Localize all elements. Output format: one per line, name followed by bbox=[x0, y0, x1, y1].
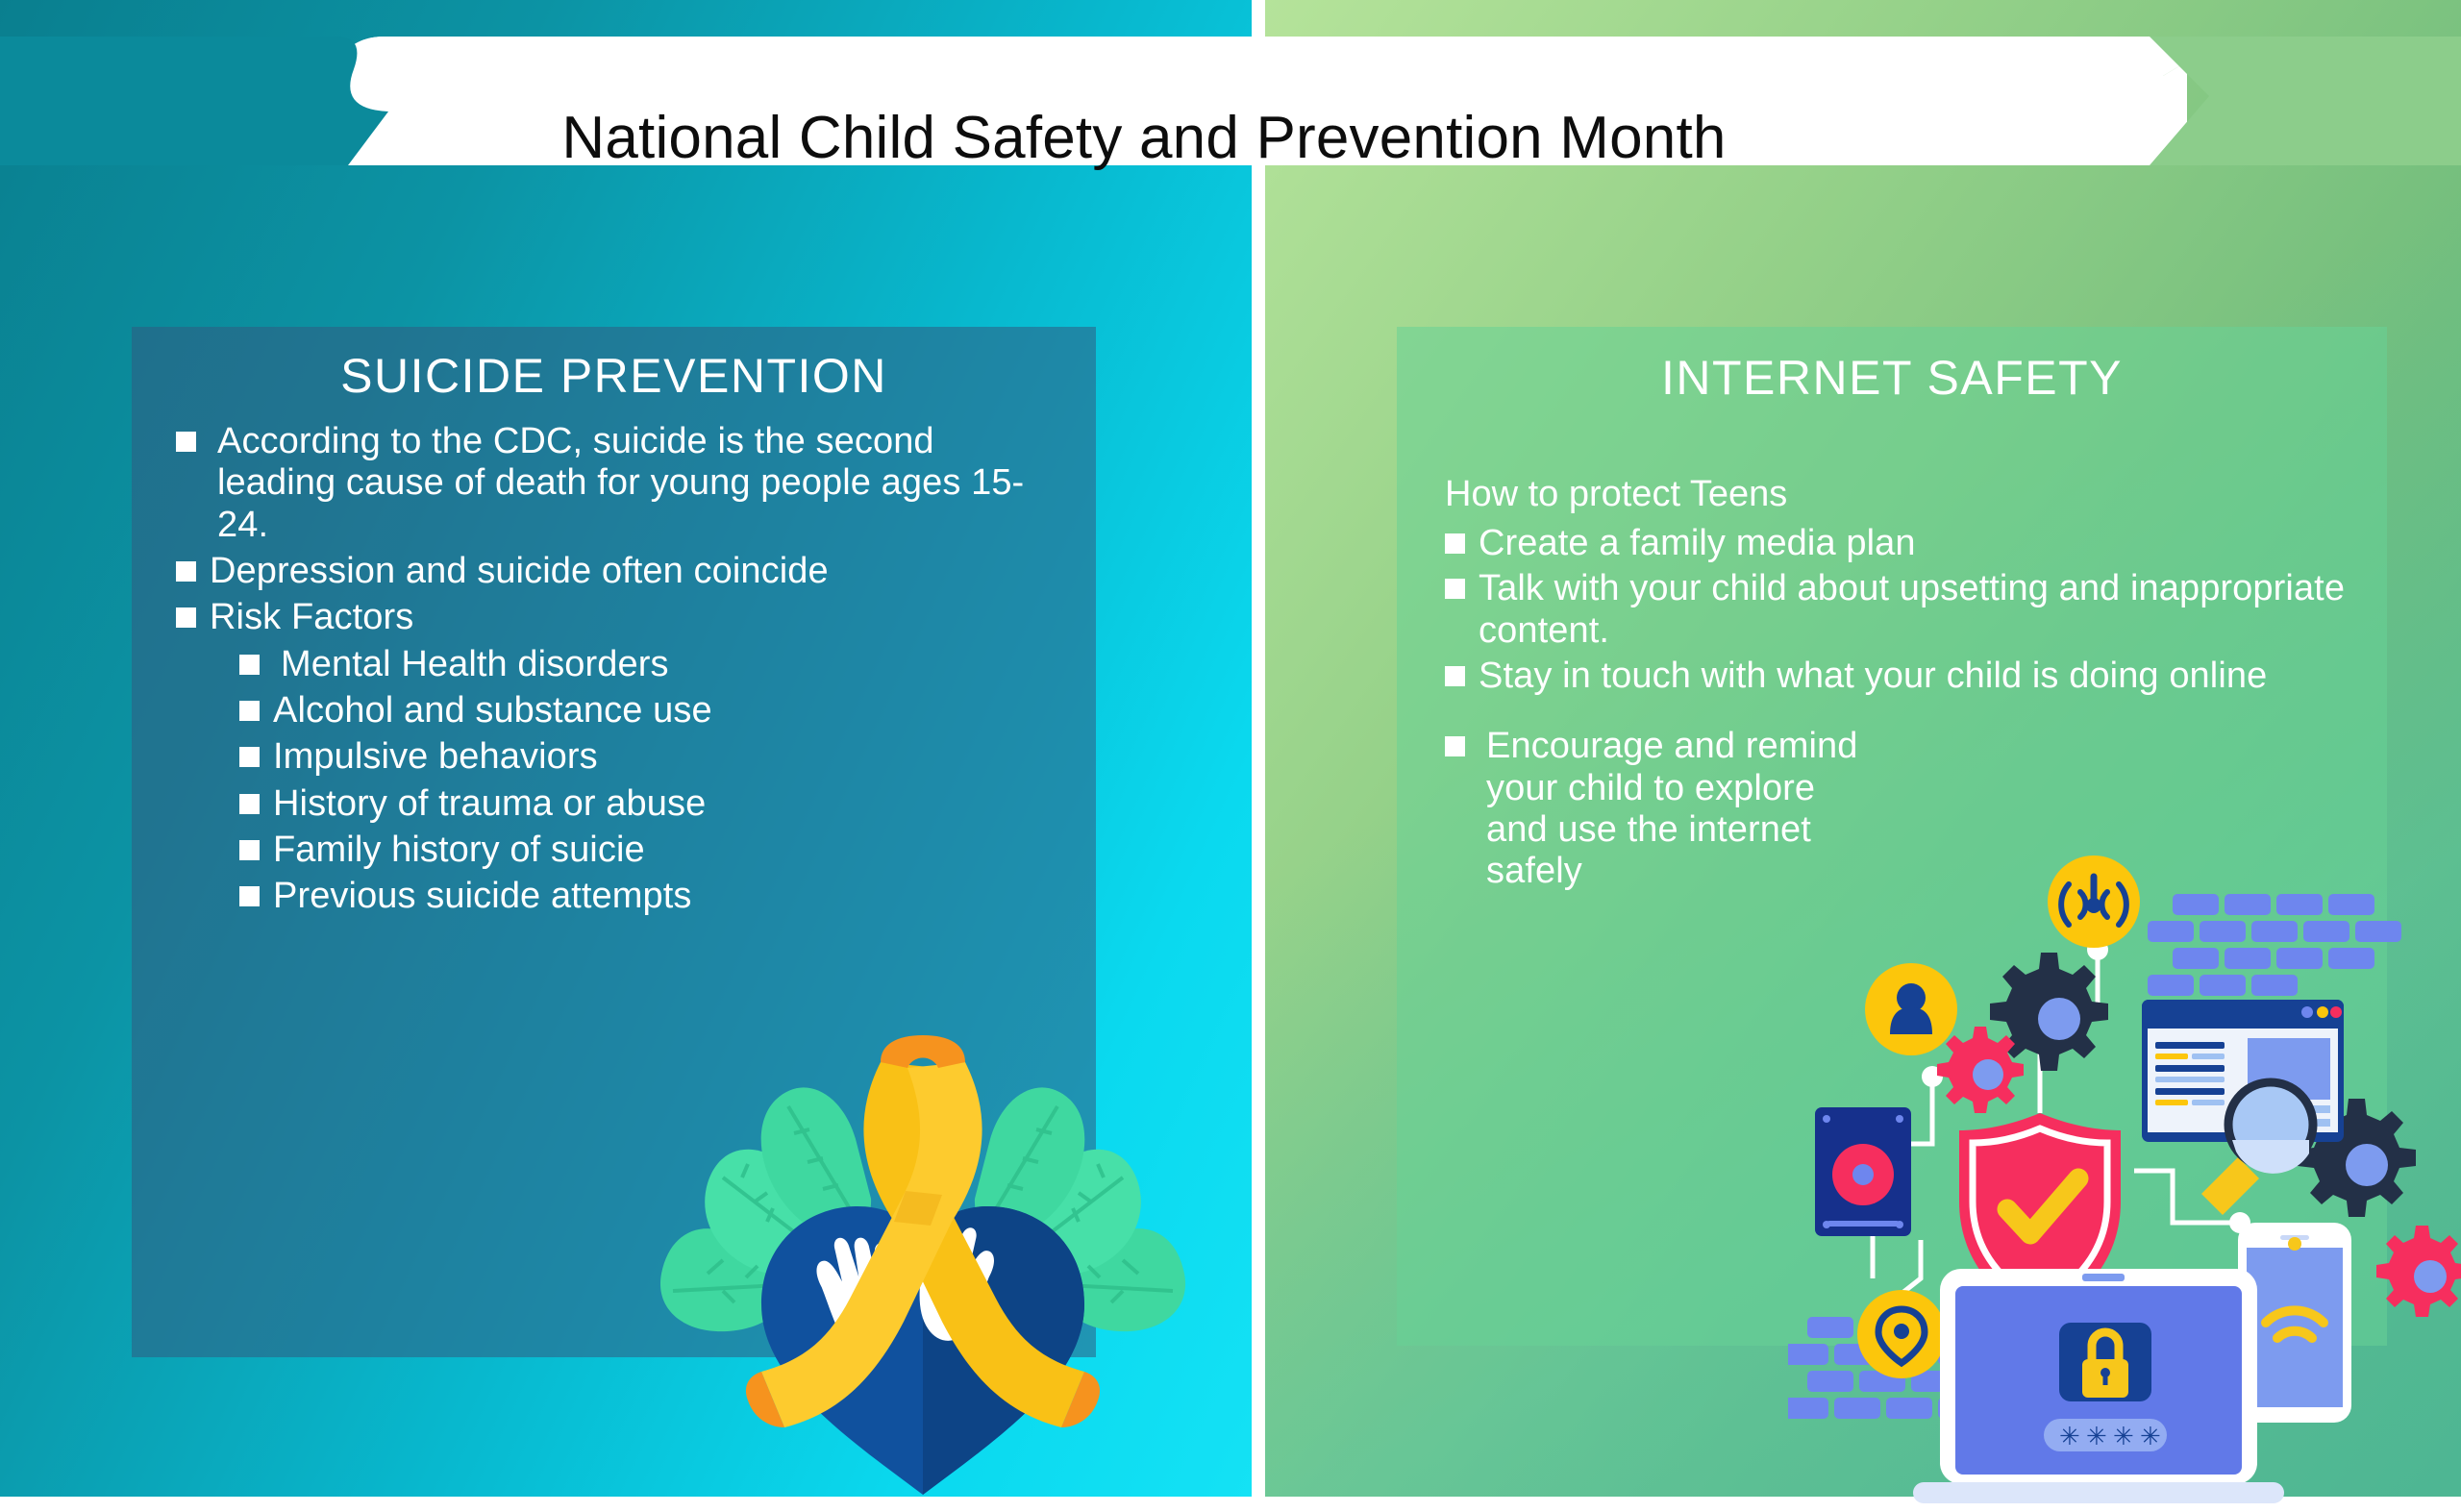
square-bullet-icon bbox=[239, 840, 260, 860]
svg-text:✳: ✳ bbox=[2113, 1422, 2134, 1450]
gear-icon bbox=[1990, 953, 2108, 1071]
sub-list-item: Family history of suicie bbox=[239, 830, 1052, 871]
broadcast-icon bbox=[2048, 855, 2140, 948]
square-bullet-icon bbox=[176, 607, 196, 628]
laptop-icon: ✳✳✳✳ bbox=[1913, 1269, 2284, 1503]
list-item: Depression and suicide often coincide bbox=[176, 551, 1052, 592]
square-bullet-icon bbox=[1445, 533, 1465, 554]
suicide-prevention-illustration bbox=[654, 1033, 1192, 1512]
left-panel-body: According to the CDC, suicide is the sec… bbox=[132, 404, 1096, 917]
list-item: Talk with your child about upsetting and… bbox=[1445, 568, 2349, 652]
sub-list-item: Impulsive behaviors bbox=[239, 736, 1052, 778]
sub-list-item-label: Family history of suicie bbox=[273, 830, 1052, 871]
sub-list-item-label: Previous suicide attempts bbox=[273, 876, 1052, 917]
square-bullet-icon bbox=[1445, 579, 1465, 599]
sub-list-item-label: Alcohol and substance use bbox=[273, 690, 1052, 731]
gear-icon bbox=[1937, 1027, 2024, 1113]
square-bullet-icon bbox=[176, 561, 196, 582]
title-ribbon: National Child Safety and Prevention Mon… bbox=[0, 37, 2461, 165]
sub-list-item-label: Mental Health disorders bbox=[281, 644, 1052, 685]
list-item: Risk Factors bbox=[176, 597, 1052, 638]
sub-list-item: Alcohol and substance use bbox=[239, 690, 1052, 731]
list-item-label: Create a family media plan bbox=[1479, 523, 2349, 564]
hard-drive-icon bbox=[1815, 1107, 1911, 1236]
gear-icon bbox=[2376, 1226, 2461, 1317]
square-bullet-icon bbox=[239, 794, 260, 814]
sub-list-item: Mental Health disorders bbox=[239, 644, 1052, 685]
square-bullet-icon bbox=[239, 655, 260, 675]
list-item-label: Stay in touch with what your child is do… bbox=[1479, 656, 2349, 697]
internet-safety-illustration: ✳✳✳✳ bbox=[1788, 855, 2461, 1512]
list-item: Create a family media plan bbox=[1445, 523, 2349, 564]
slide-root: National Child Safety and Prevention Mon… bbox=[0, 0, 2461, 1512]
svg-text:✳: ✳ bbox=[2059, 1422, 2080, 1450]
left-panel-heading: SUICIDE PREVENTION bbox=[132, 327, 1096, 404]
center-divider bbox=[1252, 0, 1265, 1512]
list-item: According to the CDC, suicide is the sec… bbox=[176, 421, 1052, 546]
square-bullet-icon bbox=[176, 432, 196, 452]
sub-list-item-label: History of trauma or abuse bbox=[273, 783, 1052, 825]
list-item-label: Talk with your child about upsetting and… bbox=[1479, 568, 2349, 652]
svg-text:✳: ✳ bbox=[2086, 1422, 2107, 1450]
square-bullet-icon bbox=[239, 747, 260, 767]
right-panel-heading: INTERNET SAFETY bbox=[1397, 327, 2387, 406]
list-item: Stay in touch with what your child is do… bbox=[1445, 656, 2349, 697]
user-account-icon bbox=[1865, 963, 1957, 1055]
sub-list-item: History of trauma or abuse bbox=[239, 783, 1052, 825]
sub-list-item: Previous suicide attempts bbox=[239, 876, 1052, 917]
svg-text:✳: ✳ bbox=[2140, 1422, 2161, 1450]
list-item-label: Risk Factors bbox=[210, 597, 1052, 638]
square-bullet-icon bbox=[1445, 666, 1465, 686]
page-title: National Child Safety and Prevention Mon… bbox=[327, 73, 1961, 202]
right-panel-body: How to protect Teens Create a family med… bbox=[1397, 406, 2387, 893]
list-item-label: According to the CDC, suicide is the sec… bbox=[217, 421, 1052, 546]
sub-list-item-label: Impulsive behaviors bbox=[273, 736, 1052, 778]
square-bullet-icon bbox=[1445, 736, 1465, 756]
right-panel-intro: How to protect Teens bbox=[1445, 473, 2349, 515]
square-bullet-icon bbox=[239, 701, 260, 721]
list-item-label: Depression and suicide often coincide bbox=[210, 551, 1052, 592]
square-bullet-icon bbox=[239, 886, 260, 906]
location-pin-icon bbox=[1857, 1290, 1946, 1378]
